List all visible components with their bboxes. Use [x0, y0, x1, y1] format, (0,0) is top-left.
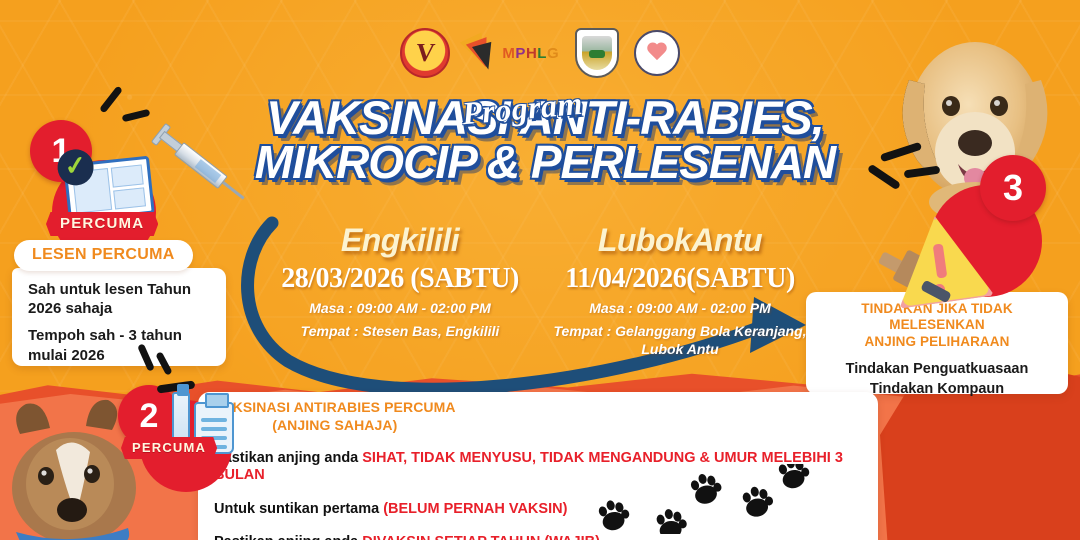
event-venue: Tempat : Gelanggang Bola Keranjang, Lubo… [532, 323, 828, 359]
event-city: LubokAntu [532, 222, 828, 259]
veterinary-services-logo: V [400, 28, 450, 78]
lesen-percuma-pill: LESEN PERCUMA [14, 240, 193, 271]
mphlg-arrow-icon [465, 32, 499, 74]
bullet-highlight: (BELUM PERNAH VAKSIN) [383, 501, 567, 517]
vaccination-heading: VAKSINASI ANTIRABIES PERCUMA (ANJING SAH… [198, 392, 482, 441]
mphlg-logo: MPHLG [465, 32, 559, 74]
warning-gavel-icon [885, 210, 995, 314]
bullet-lead: Pastikan anjing anda [214, 534, 362, 540]
bullet-lead: Untuk suntikan pertama [214, 501, 383, 517]
poster-canvas: V MPHLG Program VAKSINASI ANTI-RABIES, M… [0, 0, 1080, 540]
state-crest-logo [575, 28, 619, 78]
license-info-card: Sah untuk lesen Tahun 2026 sahaja Tempoh… [12, 268, 226, 366]
organizer-logos: V MPHLG [400, 27, 680, 79]
event-venue: Tempat : Stesen Bas, Engkilili [252, 323, 548, 341]
title-line-2: MIKROCIP & PERLESENAN [240, 140, 850, 184]
veterinary-logo-mark: V [414, 40, 436, 66]
vaccination-heading-line-2: (ANJING SAHAJA) [214, 416, 456, 434]
enforcement-title-line-2: ANJING PELIHARAAN [816, 334, 1058, 350]
scribble-accent [99, 86, 123, 114]
event-lubok-antu: LubokAntu 11/04/2026(SABTU) Masa : 09:00… [532, 222, 828, 359]
event-city: Engkilili [252, 222, 548, 259]
event-time: Masa : 09:00 AM - 02:00 PM [252, 300, 548, 318]
scribble-accent [122, 109, 151, 123]
bullet-highlight: DIVAKSIN SETIAP TAHUN (WAJIB) [362, 534, 600, 540]
enforcement-body-line-1: Tindakan Penguatkuasaan [816, 360, 1058, 380]
list-item: Pastikan anjing anda DIVAKSIN SETIAP TAH… [214, 534, 864, 540]
heart-community-logo [634, 30, 680, 76]
poster-title: Program VAKSINASI ANTI-RABIES, MIKROCIP … [240, 95, 850, 184]
event-date: 28/03/2026 (SABTU) [252, 263, 548, 295]
paw-prints [596, 464, 826, 534]
event-date: 11/04/2026(SABTU) [532, 263, 828, 295]
percuma-ribbon-license: PERCUMA [46, 212, 158, 236]
percuma-ribbon-vaccination: PERCUMA [121, 437, 217, 459]
mphlg-logo-text: MPHLG [502, 45, 559, 62]
event-engkilili: Engkilili 28/03/2026 (SABTU) Masa : 09:0… [252, 222, 548, 341]
license-info-line-1: Sah untuk lesen Tahun 2026 sahaja [28, 280, 212, 318]
vaccination-heading-line-1: VAKSINASI ANTIRABIES PERCUMA [214, 398, 456, 416]
event-time: Masa : 09:00 AM - 02:00 PM [532, 300, 828, 318]
license-info-line-2: Tempoh sah - 3 tahun mulai 2026 [28, 326, 212, 364]
